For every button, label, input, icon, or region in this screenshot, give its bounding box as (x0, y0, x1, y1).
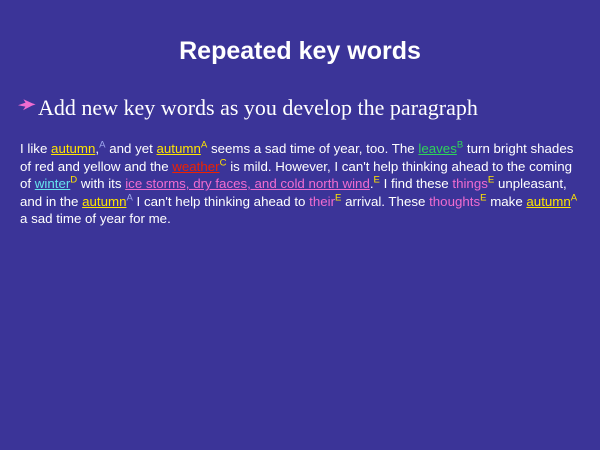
slide-canvas: Repeated key words Add new key words as … (0, 0, 600, 450)
text-run: make (487, 194, 527, 209)
text-run: arrival. These (341, 194, 429, 209)
keyword-leaves: leaves (418, 141, 456, 156)
page-title: Repeated key words (0, 36, 600, 66)
text-run: seems a sad time of year, too. The (207, 141, 418, 156)
keyword-weather: weather (172, 159, 219, 174)
keyword-thoughts: thoughts (429, 194, 480, 209)
keyword-autumn: autumn (157, 141, 201, 156)
marker-c: C (220, 157, 227, 168)
body-paragraph: I like autumn,A and yet autumnA seems a … (20, 140, 580, 227)
text-run: with its (77, 176, 125, 191)
keyword-winter: winter (35, 176, 70, 191)
keyword-autumn: autumn (526, 194, 570, 209)
arrow-right-icon (18, 98, 36, 112)
keyword-things: things (452, 176, 487, 191)
text-run: I can't help thinking ahead to (133, 194, 309, 209)
keyword-ice-storms-phrase: ice storms, dry faces, and cold north wi… (125, 176, 370, 191)
text-run: I like (20, 141, 51, 156)
subhead-row: Add new key words as you develop the par… (18, 96, 584, 120)
text-run: I find these (380, 176, 452, 191)
keyword-autumn: autumn (51, 141, 95, 156)
keyword-autumn: autumn (82, 194, 126, 209)
keyword-their: their (309, 194, 335, 209)
text-run: and yet (106, 141, 157, 156)
subhead-text: Add new key words as you develop the par… (38, 96, 478, 120)
